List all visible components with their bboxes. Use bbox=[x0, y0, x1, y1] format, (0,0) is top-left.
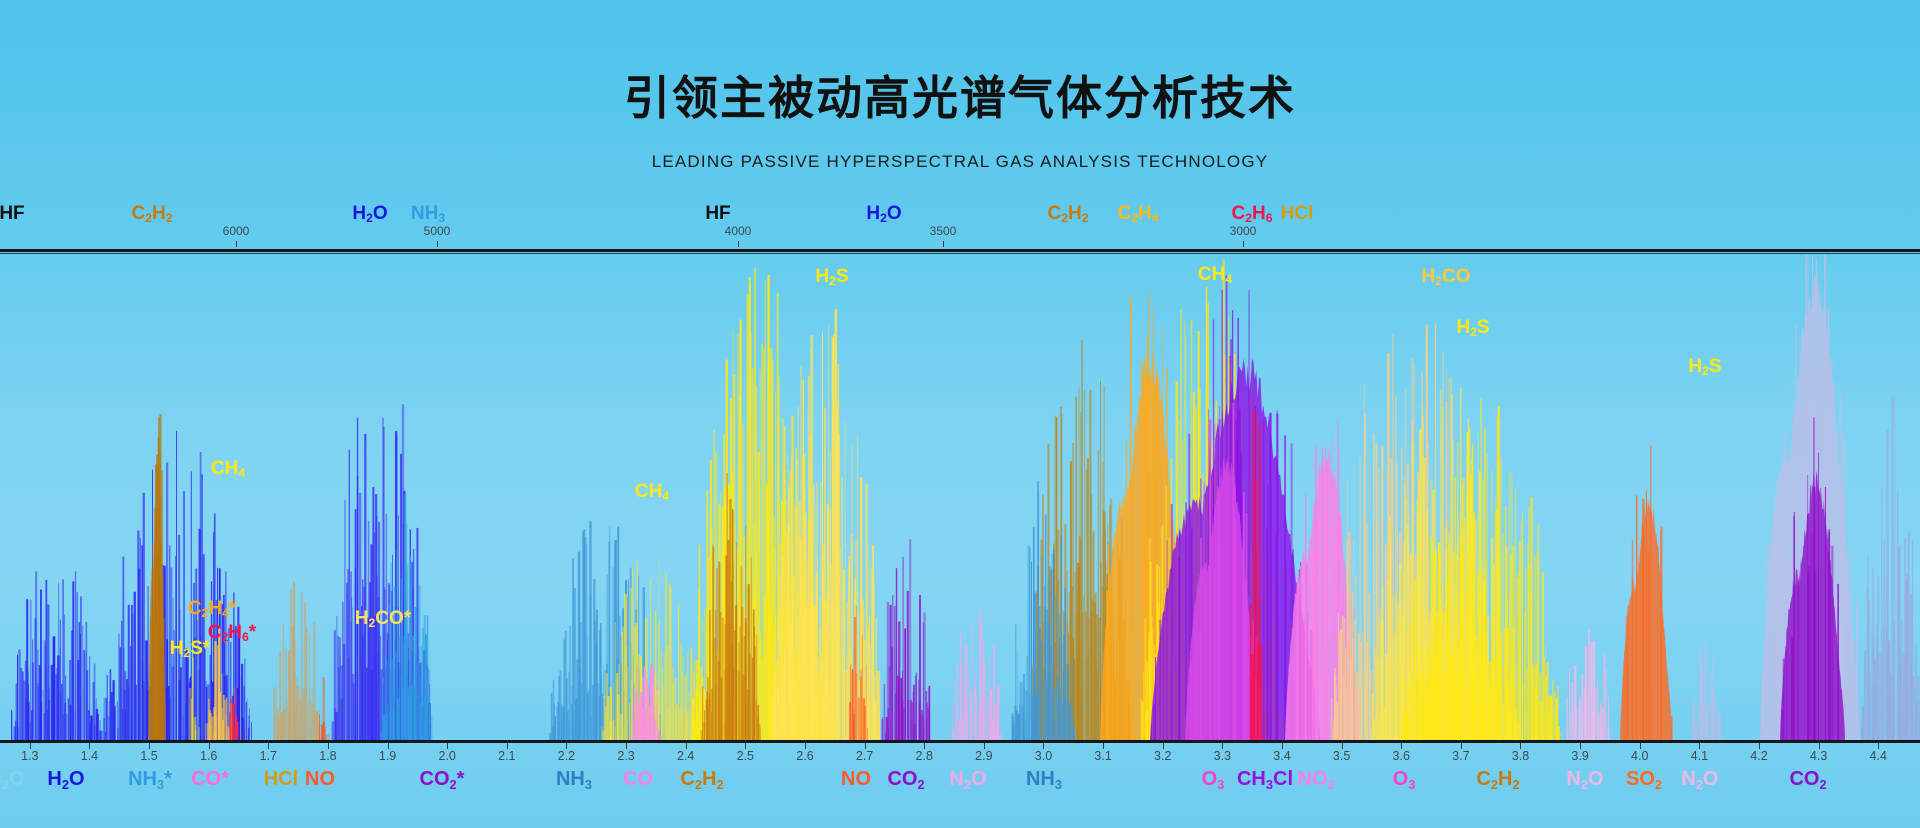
wavelength-tick-label: 2.4 bbox=[677, 749, 694, 763]
wavelength-tick-label: 1.9 bbox=[379, 749, 396, 763]
plot-annotation-ch4: CH4 bbox=[1198, 264, 1232, 286]
wavelength-tick-label: 3.6 bbox=[1393, 749, 1410, 763]
wavelength-tick-label: 2.1 bbox=[498, 749, 515, 763]
wavelength-tick-label: 1.7 bbox=[260, 749, 277, 763]
bottom-gas-label-nh3: NH3 bbox=[1026, 768, 1062, 791]
bottom-gas-label-nh3star: NH3* bbox=[128, 768, 172, 791]
page-title: 引领主被动高光谱气体分析技术 bbox=[0, 62, 1920, 128]
plot-annotation-h2sstar: H2S* bbox=[170, 638, 211, 660]
bottom-gas-label-hcl: HCl bbox=[264, 768, 298, 791]
top-wavenumber-axis: 60005000400035003000 bbox=[0, 224, 1920, 248]
bottom-gas-label-h2o: H2O bbox=[47, 768, 84, 791]
plot-annotation-c2h6star: C2H6* bbox=[208, 622, 256, 644]
wavelength-tick-label: 3.3 bbox=[1214, 749, 1231, 763]
wavelength-tick-label: 1.5 bbox=[140, 749, 157, 763]
plot-annotation-ch4: CH4 bbox=[211, 458, 245, 480]
plot-annotations: CH4C2H4*C2H6*H2S*H2CO*CH4H2SCH4H2COH2SH2… bbox=[0, 254, 1920, 740]
top-gas-label-hcl: HCl bbox=[1281, 203, 1314, 225]
top-gas-label-c2h2: C2H2 bbox=[1048, 203, 1089, 225]
wavelength-tick-label: 2.2 bbox=[558, 749, 575, 763]
wavelength-tick-label: 2.8 bbox=[916, 749, 933, 763]
wavenumber-tick-label: 3000 bbox=[1230, 224, 1257, 238]
wavelength-tick-label: 1.6 bbox=[200, 749, 217, 763]
wavelength-tick-label: 2.3 bbox=[617, 749, 634, 763]
axis-line-top bbox=[0, 249, 1920, 252]
top-gas-label-hf: HF bbox=[705, 203, 730, 225]
wavenumber-tick-mark bbox=[738, 241, 739, 247]
page-subtitle: LEADING PASSIVE HYPERSPECTRAL GAS ANALYS… bbox=[0, 152, 1920, 172]
bottom-gas-label-n2o: N2O bbox=[1566, 768, 1603, 791]
bottom-gas-label-costar: CO* bbox=[191, 768, 229, 791]
top-gas-label-nh3: NH3 bbox=[411, 203, 445, 225]
wavelength-tick-label: 3.4 bbox=[1273, 749, 1290, 763]
plot-annotation-h2s: H2S bbox=[815, 266, 848, 288]
top-gas-label-hf: HF bbox=[0, 203, 25, 225]
bottom-gas-label-nh3: NH3 bbox=[556, 768, 592, 791]
bottom-gas-label-no2: NO2 bbox=[1297, 768, 1334, 791]
bottom-gas-label-n2o: N2O bbox=[0, 768, 25, 791]
plot-annotation-c2h4star: C2H4* bbox=[188, 598, 236, 620]
wavelength-tick-label: 4.4 bbox=[1870, 749, 1887, 763]
wavelength-tick-label: 2.9 bbox=[975, 749, 992, 763]
bottom-gas-label-co2: CO2 bbox=[1789, 768, 1826, 791]
bottom-gas-labels: N2OH2ONH3*CO*HClNOCO2*NH3COC2H2NOCO2N2ON… bbox=[0, 768, 1920, 808]
plot-annotation-h2costar: H2CO* bbox=[355, 608, 411, 630]
wavelength-tick-label: 3.7 bbox=[1452, 749, 1469, 763]
plot-annotation-ch4: CH4 bbox=[635, 481, 669, 503]
bottom-gas-label-n2o: N2O bbox=[949, 768, 986, 791]
plot-annotation-h2s: H2S bbox=[1688, 356, 1721, 378]
wavelength-tick-label: 3.9 bbox=[1571, 749, 1588, 763]
wavenumber-tick-label: 5000 bbox=[424, 224, 451, 238]
bottom-gas-label-ch3cl: CH3Cl bbox=[1237, 768, 1293, 791]
top-gas-label-c2h2: C2H2 bbox=[132, 203, 173, 225]
wavelength-tick-label: 1.8 bbox=[319, 749, 336, 763]
wavenumber-tick-label: 4000 bbox=[725, 224, 752, 238]
bottom-gas-label-no: NO bbox=[841, 768, 871, 791]
bottom-gas-label-co2star: CO2* bbox=[420, 768, 465, 791]
wavenumber-tick-mark bbox=[1243, 241, 1244, 247]
wavelength-tick-label: 1.4 bbox=[81, 749, 98, 763]
bottom-gas-label-so2: SO2 bbox=[1626, 768, 1662, 791]
wavelength-tick-label: 2.5 bbox=[737, 749, 754, 763]
bottom-gas-label-o3: O3 bbox=[1393, 768, 1416, 791]
wavenumber-tick-mark bbox=[236, 241, 237, 247]
wavelength-tick-label: 3.0 bbox=[1035, 749, 1052, 763]
wavenumber-tick-mark bbox=[943, 241, 944, 247]
wavelength-tick-label: 3.2 bbox=[1154, 749, 1171, 763]
bottom-gas-label-o3: O3 bbox=[1202, 768, 1225, 791]
wavelength-tick-label: 3.5 bbox=[1333, 749, 1350, 763]
bottom-gas-label-co: CO bbox=[623, 768, 653, 791]
bottom-gas-label-c2h2: C2H2 bbox=[680, 768, 723, 791]
plot-annotation-h2s: H2S bbox=[1456, 317, 1489, 339]
wavenumber-tick-mark bbox=[437, 241, 438, 247]
bottom-gas-label-no: NO bbox=[305, 768, 335, 791]
top-gas-label-h2o: H2O bbox=[352, 203, 387, 225]
wavelength-tick-label: 1.3 bbox=[21, 749, 38, 763]
top-gas-label-c2h6: C2H6 bbox=[1232, 203, 1273, 225]
wavelength-tick-label: 3.1 bbox=[1094, 749, 1111, 763]
bottom-gas-label-n2o: N2O bbox=[1681, 768, 1718, 791]
wavelength-tick-label: 4.1 bbox=[1691, 749, 1708, 763]
wavelength-tick-label: 4.3 bbox=[1810, 749, 1827, 763]
page-header: 引领主被动高光谱气体分析技术 LEADING PASSIVE HYPERSPEC… bbox=[0, 0, 1920, 208]
bottom-gas-label-co2: CO2 bbox=[887, 768, 924, 791]
wavenumber-tick-label: 6000 bbox=[223, 224, 250, 238]
wavenumber-tick-label: 3500 bbox=[930, 224, 957, 238]
wavelength-tick-label: 3.8 bbox=[1512, 749, 1529, 763]
plot-annotation-h2co: H2CO bbox=[1422, 266, 1471, 288]
wavelength-tick-label: 4.2 bbox=[1750, 749, 1767, 763]
wavelength-tick-label: 2.7 bbox=[856, 749, 873, 763]
top-gas-label-h2o: H2O bbox=[866, 203, 901, 225]
bottom-gas-label-c2h2: C2H2 bbox=[1476, 768, 1519, 791]
wavelength-tick-label: 2.0 bbox=[439, 749, 456, 763]
wavelength-tick-label: 4.0 bbox=[1631, 749, 1648, 763]
bottom-wavelength-axis: 1.31.41.51.61.71.81.92.02.12.22.32.42.52… bbox=[0, 743, 1920, 769]
top-gas-label-c2h4: C2H4 bbox=[1118, 203, 1159, 225]
wavelength-tick-label: 2.6 bbox=[796, 749, 813, 763]
